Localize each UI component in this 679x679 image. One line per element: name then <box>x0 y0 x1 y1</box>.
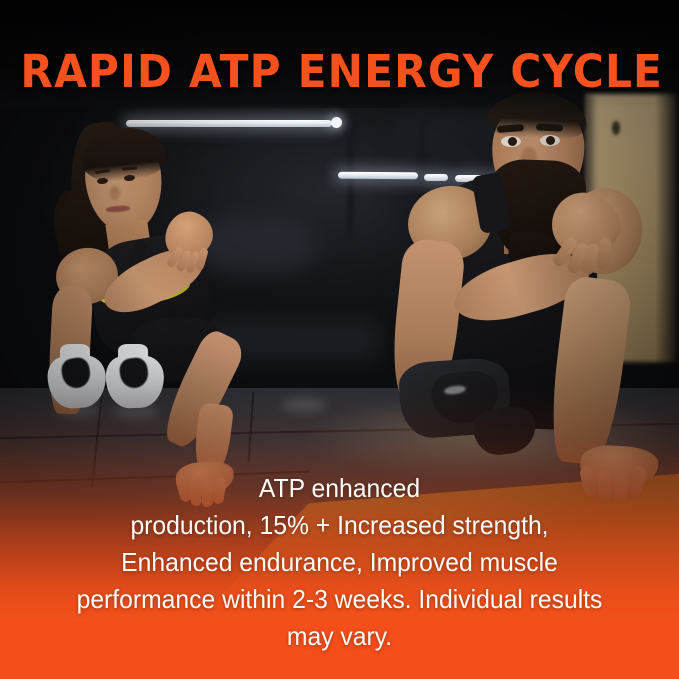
benefit-line: Enhanced endurance, Improved muscle <box>44 544 636 581</box>
right-edge-shadow <box>655 70 679 370</box>
blurred-equipment-shape <box>196 215 316 273</box>
fluorescent-light-icon <box>338 172 418 180</box>
male-pupil <box>546 136 555 145</box>
benefit-line: ATP enhanced <box>44 470 636 507</box>
fluorescent-light-icon <box>424 174 448 181</box>
benefit-line: performance within 2-3 weeks. Individual… <box>44 581 636 618</box>
rig-post-icon <box>347 120 354 240</box>
plyo-box-handle-hole <box>612 121 620 135</box>
benefit-description: ATP enhanced production, 15% + Increased… <box>44 470 636 655</box>
rig-post-icon <box>344 120 350 134</box>
male-eyebrow <box>536 123 563 131</box>
female-nose <box>110 186 120 200</box>
benefit-line: may vary. <box>44 618 636 655</box>
page-title: RAPID ATP ENERGY CYCLE <box>20 48 658 96</box>
male-pupil <box>508 137 517 146</box>
benefit-line: production, 15% + Increased strength, <box>44 507 636 544</box>
product-infographic-poster: RAPID ATP ENERGY CYCLE ATP enhanced prod… <box>0 0 679 679</box>
fluorescent-light-icon <box>126 120 332 127</box>
light-endcap-icon <box>331 117 342 128</box>
